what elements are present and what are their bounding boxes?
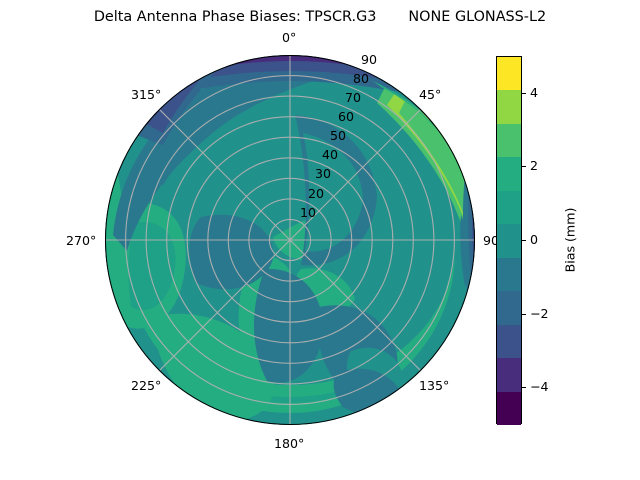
colorbar-tick-mark-0 <box>522 93 526 94</box>
colorbar-band-6 <box>497 258 521 291</box>
colorbar-tick-mark-3 <box>522 314 526 315</box>
colorbar[interactable]: 420−2−4 <box>496 56 522 424</box>
colorbar-axis-label: Bias (mm) <box>563 208 578 273</box>
polar-gridlines <box>105 55 475 425</box>
azimuth-tick-315[interactable]: 315° <box>131 88 161 101</box>
colorbar-tick-label-1: 2 <box>530 159 538 172</box>
radial-tick-40[interactable]: 40 <box>322 148 338 161</box>
radial-tick-50[interactable]: 50 <box>330 129 346 142</box>
radial-tick-60[interactable]: 60 <box>338 110 354 123</box>
polar-axes[interactable] <box>105 55 475 425</box>
colorbar-tick-label-3: −2 <box>530 307 549 320</box>
azimuth-tick-45[interactable]: 45° <box>419 88 441 101</box>
radial-tick-20[interactable]: 20 <box>308 187 324 200</box>
radial-tick-70[interactable]: 70 <box>345 91 361 104</box>
colorbar-band-2 <box>497 124 521 157</box>
colorbar-gradient <box>496 56 522 424</box>
figure-canvas: Delta Antenna Phase Biases: TPSCR.G3 NON… <box>0 0 640 480</box>
colorbar-band-4 <box>497 191 521 224</box>
colorbar-tick-label-4: −4 <box>530 380 549 393</box>
colorbar-tick-mark-1 <box>522 166 526 167</box>
radial-tick-10[interactable]: 10 <box>300 206 316 219</box>
azimuth-tick-135[interactable]: 135° <box>419 379 449 392</box>
colorbar-tick-label-0: 4 <box>530 86 538 99</box>
colorbar-band-7 <box>497 291 521 324</box>
colorbar-band-1 <box>497 90 521 123</box>
radial-tick-80[interactable]: 80 <box>353 72 369 85</box>
colorbar-tick-mark-4 <box>522 387 526 388</box>
polar-data-region <box>105 55 475 425</box>
colorbar-band-5 <box>497 224 521 257</box>
colorbar-tick-mark-2 <box>522 240 526 241</box>
radial-tick-30[interactable]: 30 <box>315 167 331 180</box>
azimuth-tick-270[interactable]: 270° <box>66 234 96 247</box>
azimuth-tick-180[interactable]: 180° <box>274 437 304 450</box>
figure-title: Delta Antenna Phase Biases: TPSCR.G3 NON… <box>0 8 640 26</box>
colorbar-band-3 <box>497 157 521 190</box>
colorbar-band-0 <box>497 57 521 90</box>
colorbar-tick-label-2: 0 <box>530 233 538 246</box>
azimuth-tick-225[interactable]: 225° <box>131 379 161 392</box>
colorbar-band-9 <box>497 358 521 391</box>
radial-tick-90[interactable]: 90 <box>361 53 377 66</box>
azimuth-tick-0[interactable]: 0° <box>282 31 296 44</box>
colorbar-band-8 <box>497 325 521 358</box>
colorbar-band-10 <box>497 392 521 425</box>
